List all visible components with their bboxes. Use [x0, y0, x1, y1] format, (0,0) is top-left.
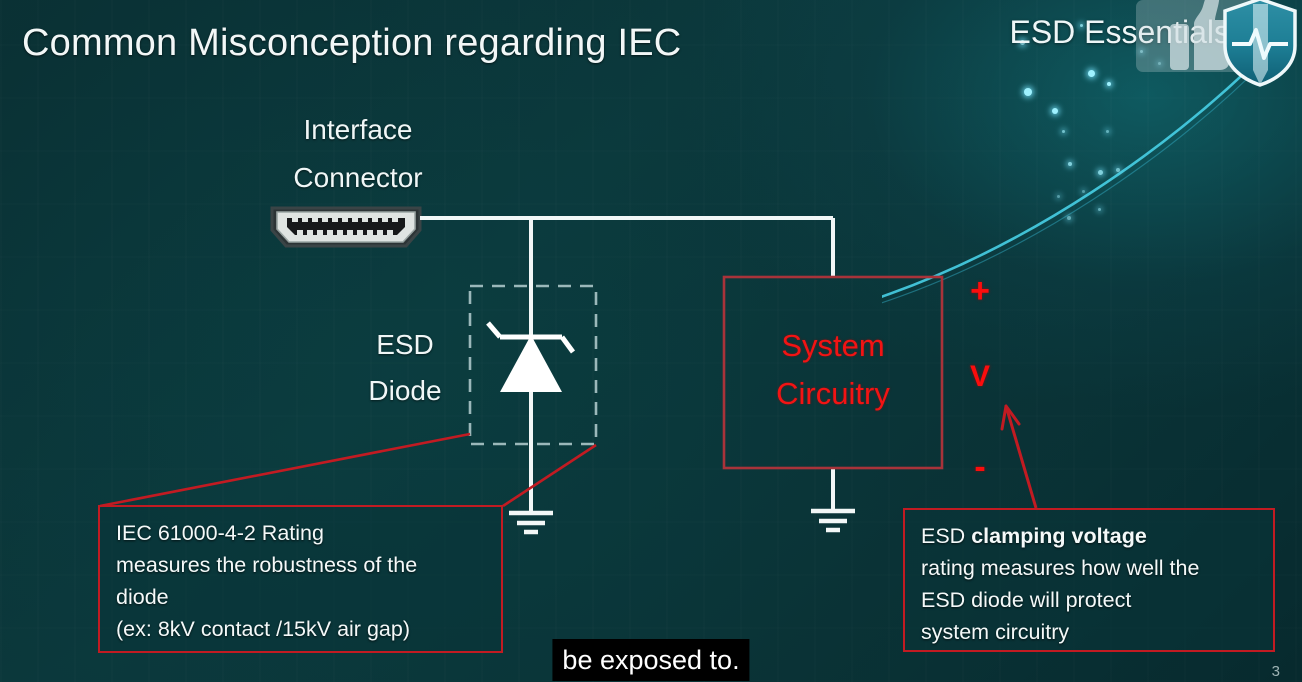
system-label-line2: Circuitry — [726, 370, 940, 418]
callout-left-line1: IEC 61000-4-2 Rating — [116, 517, 487, 549]
slide-canvas: Common Misconception regarding IEC ESD E… — [0, 0, 1302, 682]
callout-right-line2: rating measures how well the — [921, 552, 1259, 584]
callout-right-line4: system circuitry — [921, 616, 1259, 648]
callout-left-line4: (ex: 8kV contact /15kV air gap) — [116, 613, 487, 645]
voltage-value-marker: V — [958, 360, 1002, 394]
system-label-line1: System — [726, 322, 940, 370]
voltage-markers: + V - — [958, 272, 1002, 484]
callout-right-line1: ESD clamping voltage — [921, 520, 1259, 552]
system-circuitry-label: System Circuitry — [726, 322, 940, 418]
esd-diode-label: ESD Diode — [340, 322, 470, 414]
page-number: 3 — [1272, 663, 1280, 680]
callout-right-prefix: ESD — [921, 524, 971, 548]
callout-right-line3: ESD diode will protect — [921, 584, 1259, 616]
callout-right-bold: clamping voltage — [971, 524, 1147, 548]
ground-symbol-diode — [509, 513, 553, 532]
video-caption: be exposed to. — [552, 639, 749, 681]
voltage-minus-marker: - — [958, 448, 1002, 487]
esd-label-line1: ESD — [340, 322, 470, 368]
callout-left-line2: measures the robustness of the — [116, 549, 487, 581]
callout-right-arrow — [1002, 406, 1036, 508]
voltage-plus-marker: + — [958, 272, 1002, 311]
callout-right: ESD clamping voltage rating measures how… — [903, 508, 1275, 652]
callout-left-line3: diode — [116, 581, 487, 613]
callout-left: IEC 61000-4-2 Rating measures the robust… — [98, 505, 503, 653]
esd-label-line2: Diode — [340, 368, 470, 414]
ground-symbol-system — [811, 511, 855, 530]
